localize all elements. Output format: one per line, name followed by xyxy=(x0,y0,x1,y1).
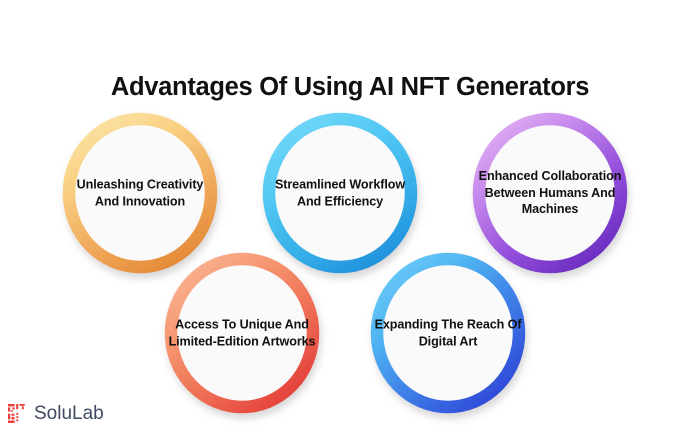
ring-2-shape xyxy=(163,252,321,414)
ring-node-1[interactable]: Unleashing Creativity And Innovation xyxy=(61,112,219,274)
ring-node-4[interactable]: Expanding The Reach Of Digital Art xyxy=(369,252,527,414)
solulab-logo-text: SoluLab xyxy=(34,404,104,423)
ring-5-shape xyxy=(471,112,629,274)
ring-node-3[interactable]: Streamlined Workflow And Efficiency xyxy=(261,112,419,274)
ring-4-shape xyxy=(369,252,527,414)
ring-node-2[interactable]: Access To Unique And Limited-Edition Art… xyxy=(163,252,321,414)
ring-1-shape xyxy=(61,112,219,274)
ring-node-5[interactable]: Enhanced Collaboration Between Humans An… xyxy=(471,112,629,274)
ring-chain-diagram: Unleashing Creativity And Innovation xyxy=(0,0,700,441)
ring-3-shape xyxy=(261,112,419,274)
solulab-qr-mark-icon xyxy=(8,404,27,423)
infographic-canvas: Advantages Of Using AI NFT Generators xyxy=(0,0,700,441)
solulab-logo[interactable]: SoluLab xyxy=(8,404,104,423)
